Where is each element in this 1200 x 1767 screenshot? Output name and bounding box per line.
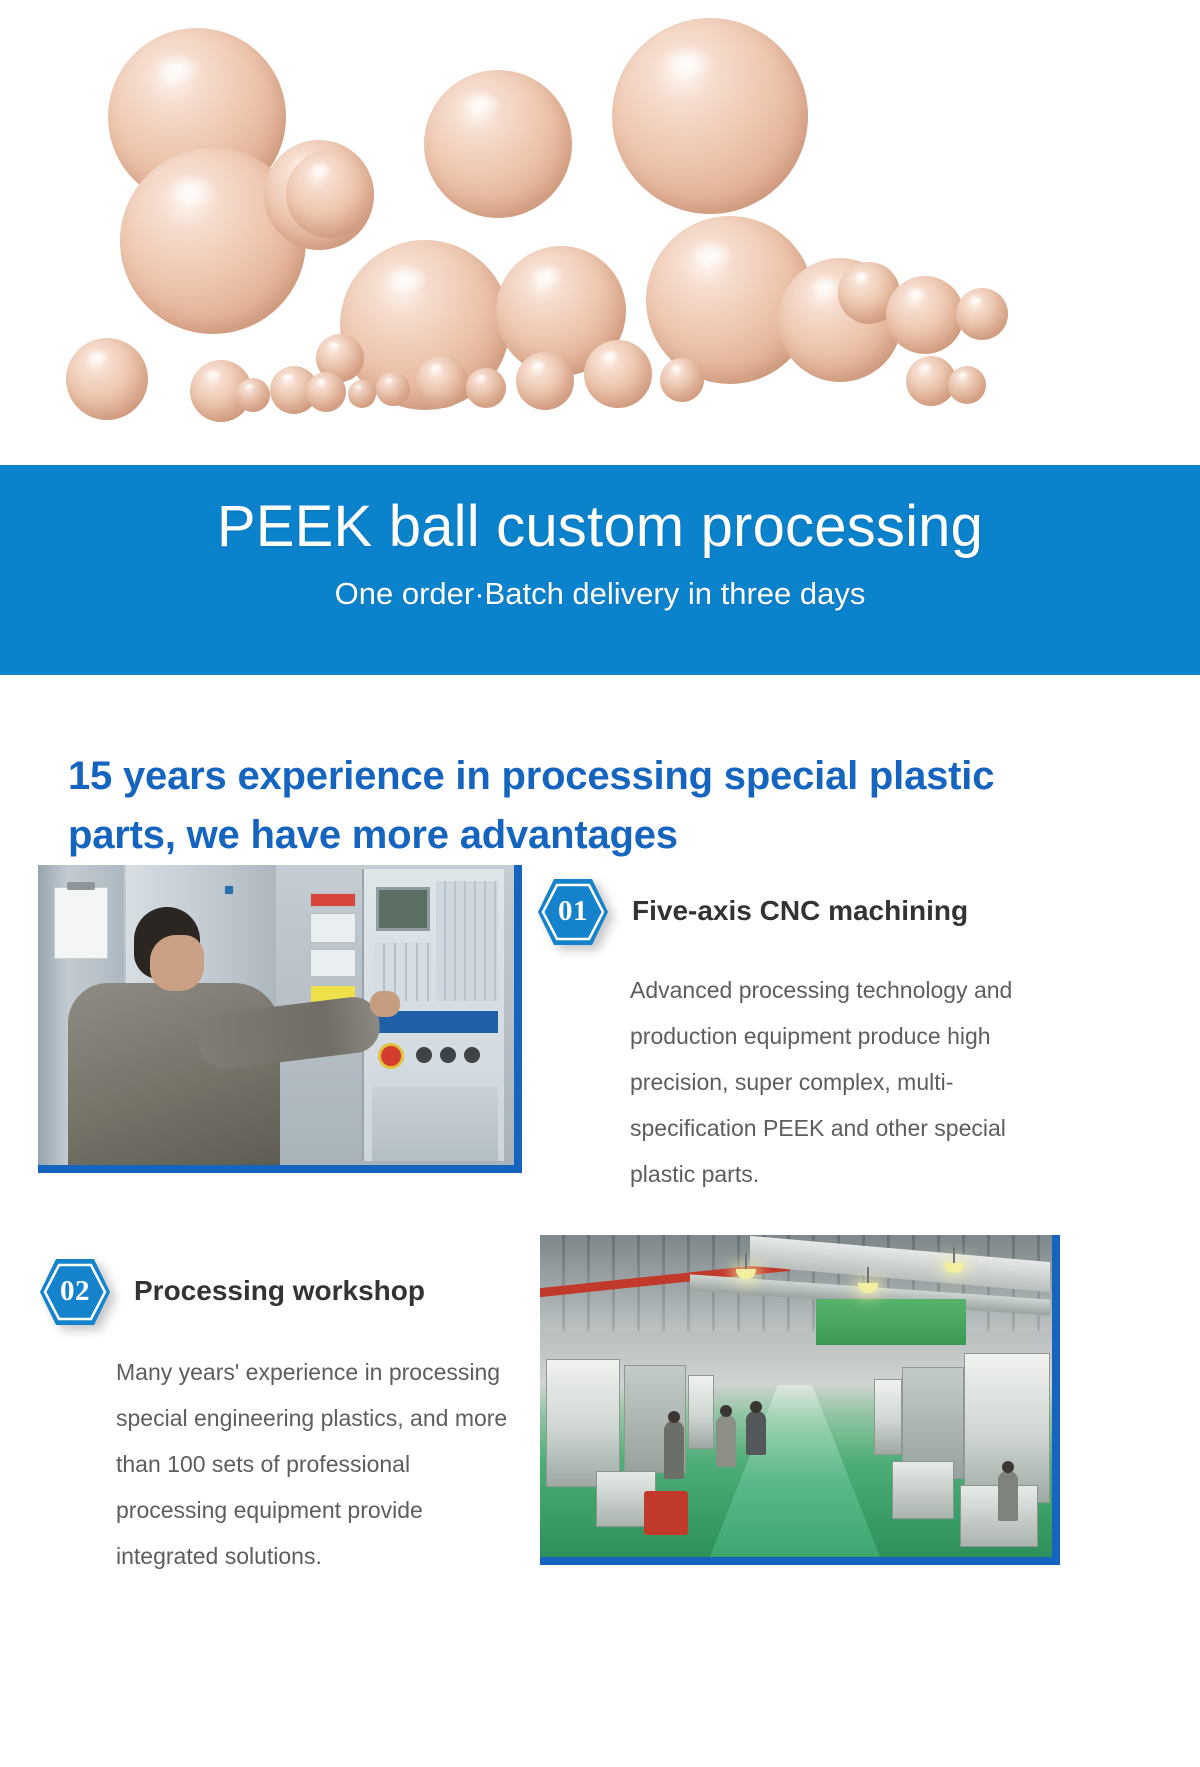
- page-subtitle: One order·Batch delivery in three days: [0, 556, 1200, 609]
- feature-block-01: 01 Five-axis CNC machining Advanced proc…: [0, 865, 1200, 1235]
- feature-number: 01: [536, 875, 610, 949]
- feature-number: 02: [38, 1255, 112, 1329]
- page-bottom-spacer: [0, 1595, 1200, 1635]
- feature-body: Many years' experience in processing spe…: [38, 1329, 508, 1579]
- feature-block-02: 02 Processing workshop Many years' exper…: [0, 1235, 1200, 1595]
- feature-02-header: 02 Processing workshop: [38, 1255, 508, 1329]
- page-title: PEEK ball custom processing: [0, 465, 1200, 556]
- hexagon-badge-icon: 01: [536, 875, 610, 949]
- hexagon-badge-icon: 02: [38, 1255, 112, 1329]
- hero-banner: PEEK ball custom processing One order·Ba…: [0, 0, 1200, 675]
- cnc-machine-operator-photo: [38, 865, 522, 1173]
- feature-title: Five-axis CNC machining: [632, 896, 968, 927]
- hero-title-band: PEEK ball custom processing One order·Ba…: [0, 465, 1200, 675]
- feature-body: Advanced processing technology and produ…: [536, 949, 1064, 1197]
- feature-01-header: 01 Five-axis CNC machining: [536, 875, 1064, 949]
- section-heading: 15 years experience in processing specia…: [0, 675, 1030, 865]
- feature-title: Processing workshop: [134, 1276, 425, 1307]
- processing-workshop-photo: [540, 1235, 1060, 1565]
